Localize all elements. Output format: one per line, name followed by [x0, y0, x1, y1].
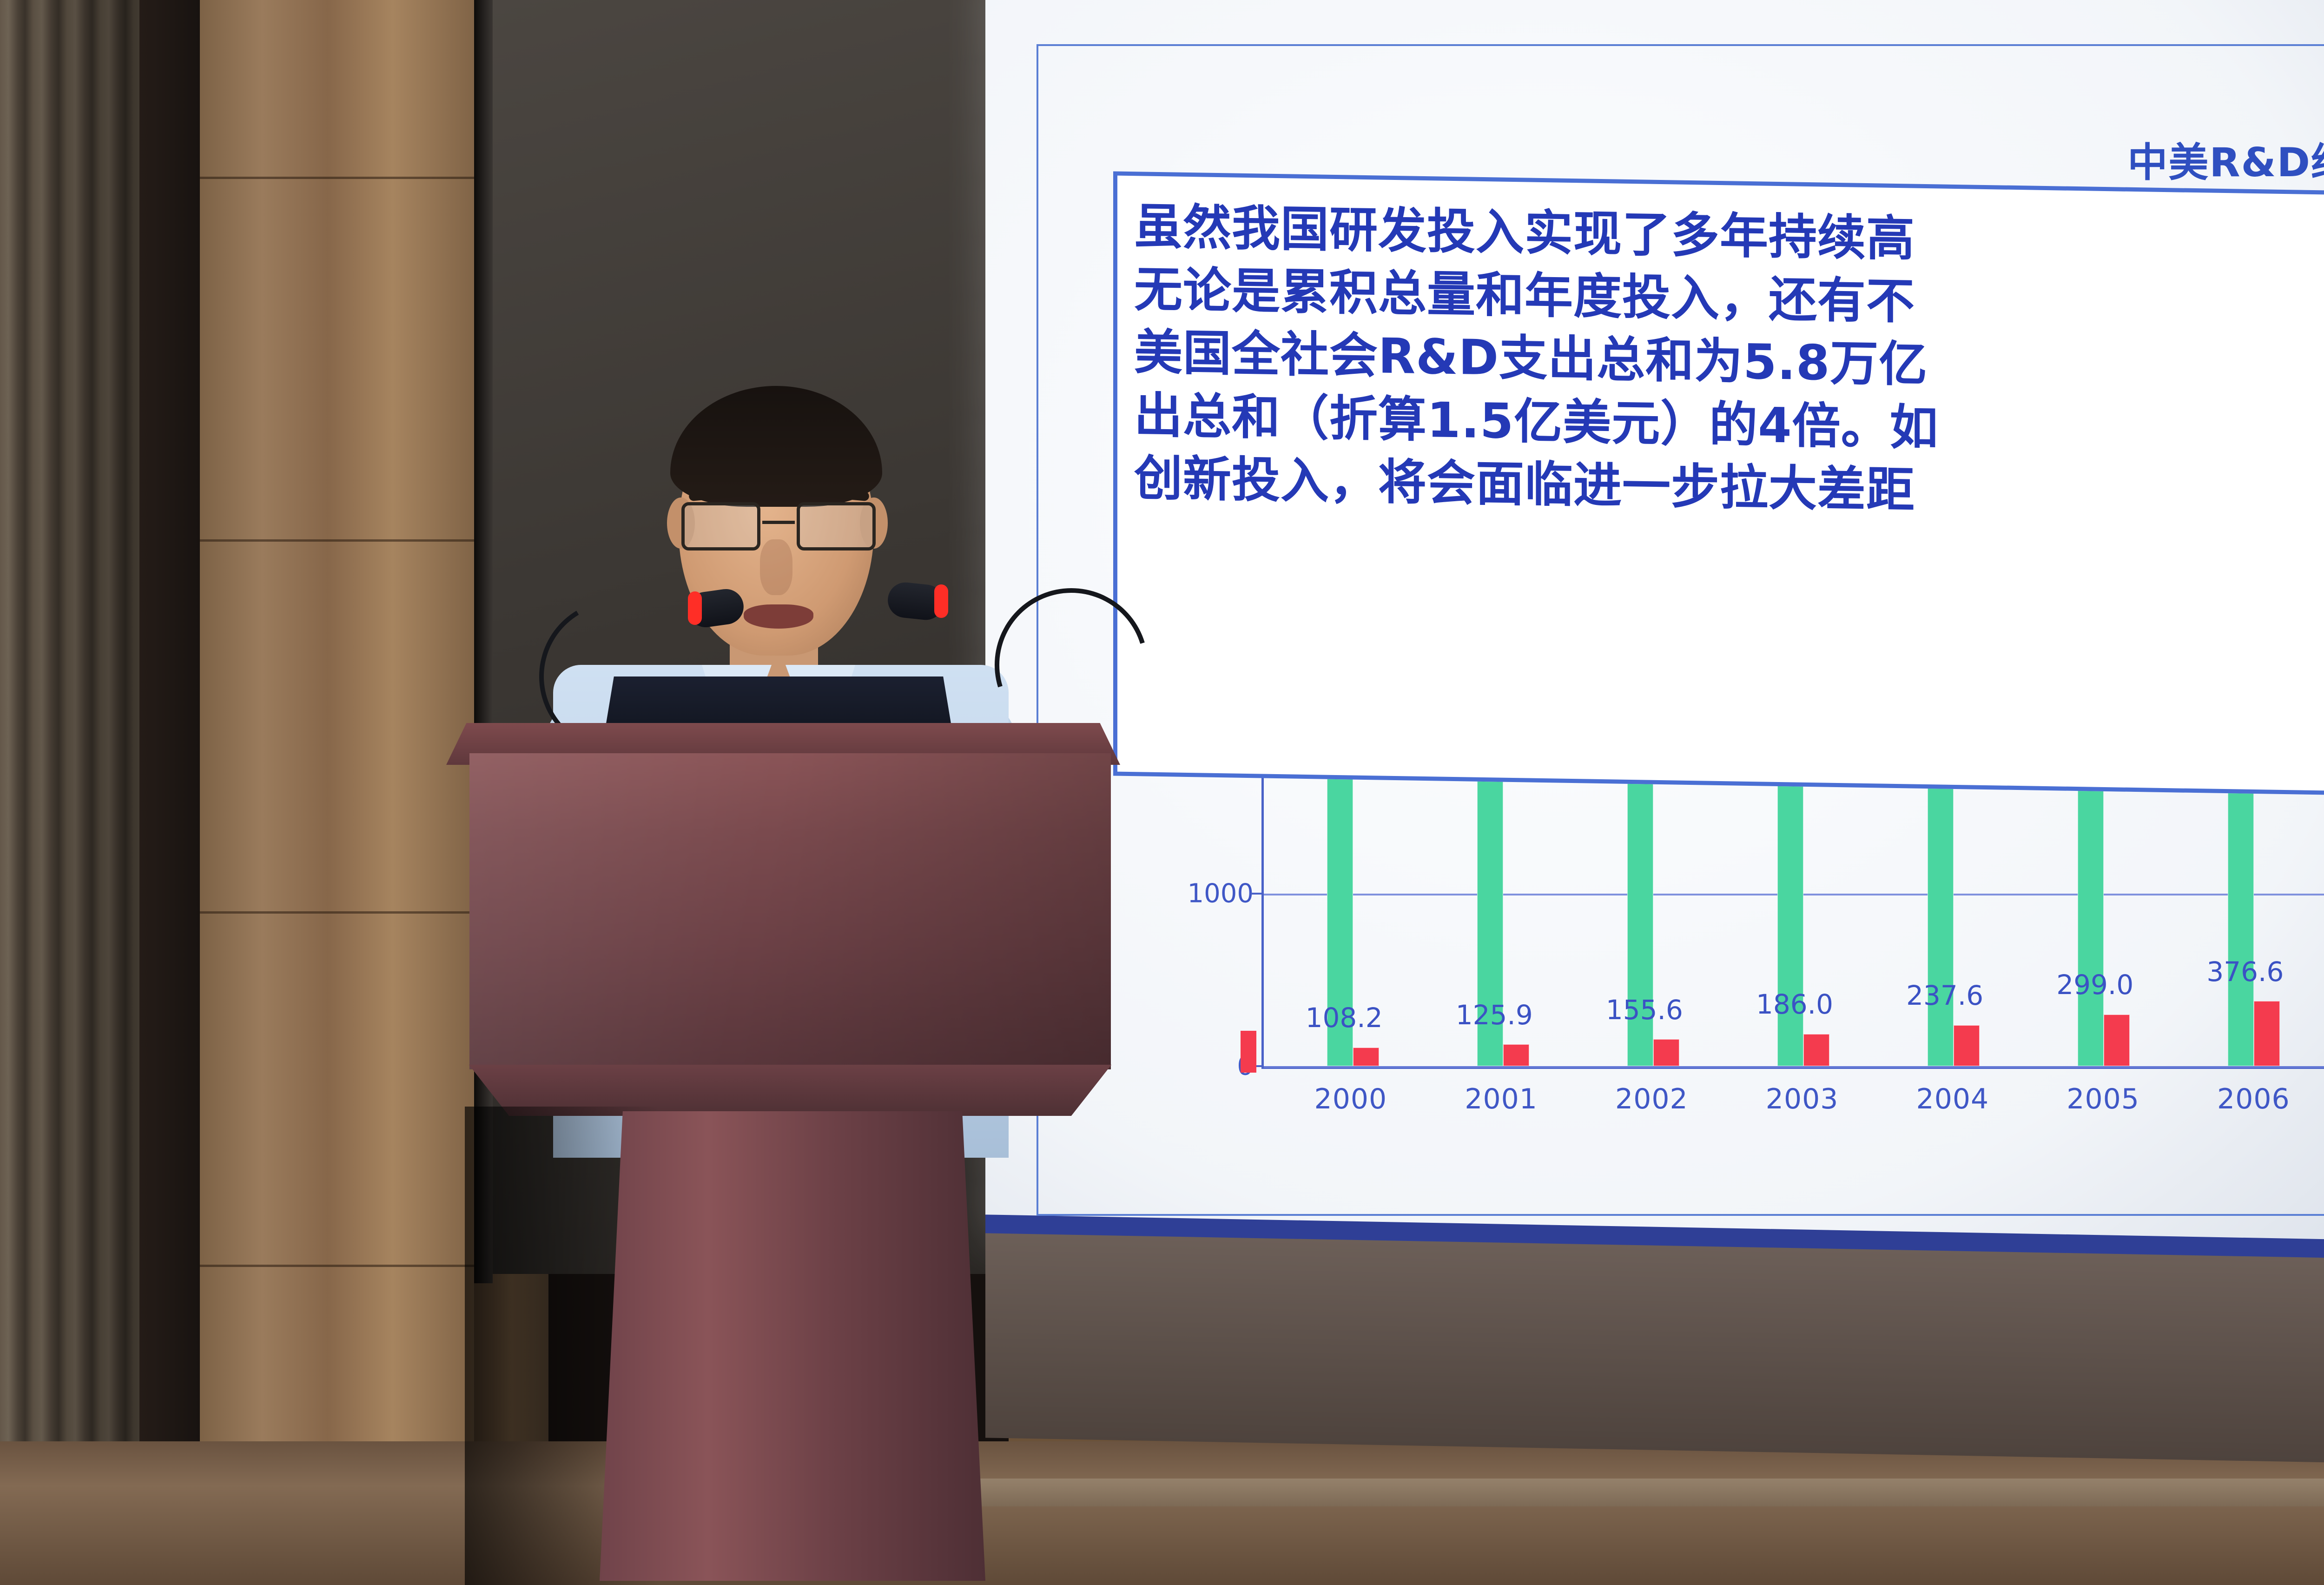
glasses-bridge — [762, 521, 795, 524]
bar-us — [2254, 1001, 2280, 1066]
nose — [760, 539, 792, 595]
bar-data-label: 125.9 — [1456, 999, 1533, 1031]
bar-data-label: 155.6 — [1606, 994, 1683, 1026]
bar-us — [2104, 1015, 2130, 1066]
wall-below-screen — [985, 1233, 2324, 1463]
bar-data-label: 299.0 — [2056, 969, 2133, 1001]
bar-us — [1803, 1034, 1829, 1066]
mic-indicator-left — [688, 591, 702, 625]
x-axis-tick-label: 2006 — [2217, 1083, 2290, 1139]
x-axis-tick-label: 2000 — [1314, 1083, 1387, 1139]
bar-us — [1954, 1025, 1980, 1066]
mouth — [744, 604, 813, 629]
slide-text-callout: 虽然我国研发投入实现了多年持续高 无论是累积总量和年度投入，还有不 美国全社会R… — [1113, 171, 2324, 796]
wood-wall-panel — [200, 0, 483, 1451]
chart-x-axis-labels: 20002001200220032004200520062007 — [1261, 1083, 2324, 1139]
presentation-photo: 中美R&D经费支 500040003000200010000 108.2125.… — [0, 0, 2324, 1585]
x-axis-tick-label: 2003 — [1766, 1083, 1839, 1139]
y-axis-tick-mark — [1251, 893, 1264, 895]
x-axis-tick-label: 2005 — [2067, 1083, 2139, 1139]
glasses-lens-left — [681, 502, 760, 550]
bar-data-label: 108.2 — [1306, 1002, 1383, 1034]
x-axis-tick-label: 2001 — [1465, 1083, 1538, 1139]
podium-column — [600, 1111, 985, 1581]
bar-us — [1353, 1048, 1379, 1066]
bar-us — [1503, 1044, 1529, 1066]
glasses-lens-right — [797, 502, 876, 550]
x-axis-tick-label: 2002 — [1615, 1083, 1688, 1139]
bar-data-label: 376.6 — [2206, 956, 2284, 988]
floor — [0, 1441, 2324, 1585]
bar-data-label: 237.6 — [1906, 980, 1983, 1011]
floor-strip — [883, 1479, 2324, 1506]
y-axis-tick-label: 1000 — [1187, 879, 1254, 909]
bar-data-label: 186.0 — [1756, 988, 1833, 1020]
slide-title: 中美R&D经费支 — [2127, 130, 2324, 188]
x-axis-tick-label: 2004 — [1916, 1083, 1989, 1139]
curtain-shadow — [0, 0, 139, 1511]
legend-swatch-us — [1241, 1031, 1256, 1073]
gridline — [1264, 1066, 2324, 1068]
mic-indicator-right — [934, 584, 948, 618]
podium-front-panel — [469, 753, 1111, 1069]
hair — [670, 386, 882, 507]
bar-us — [1653, 1039, 1679, 1066]
